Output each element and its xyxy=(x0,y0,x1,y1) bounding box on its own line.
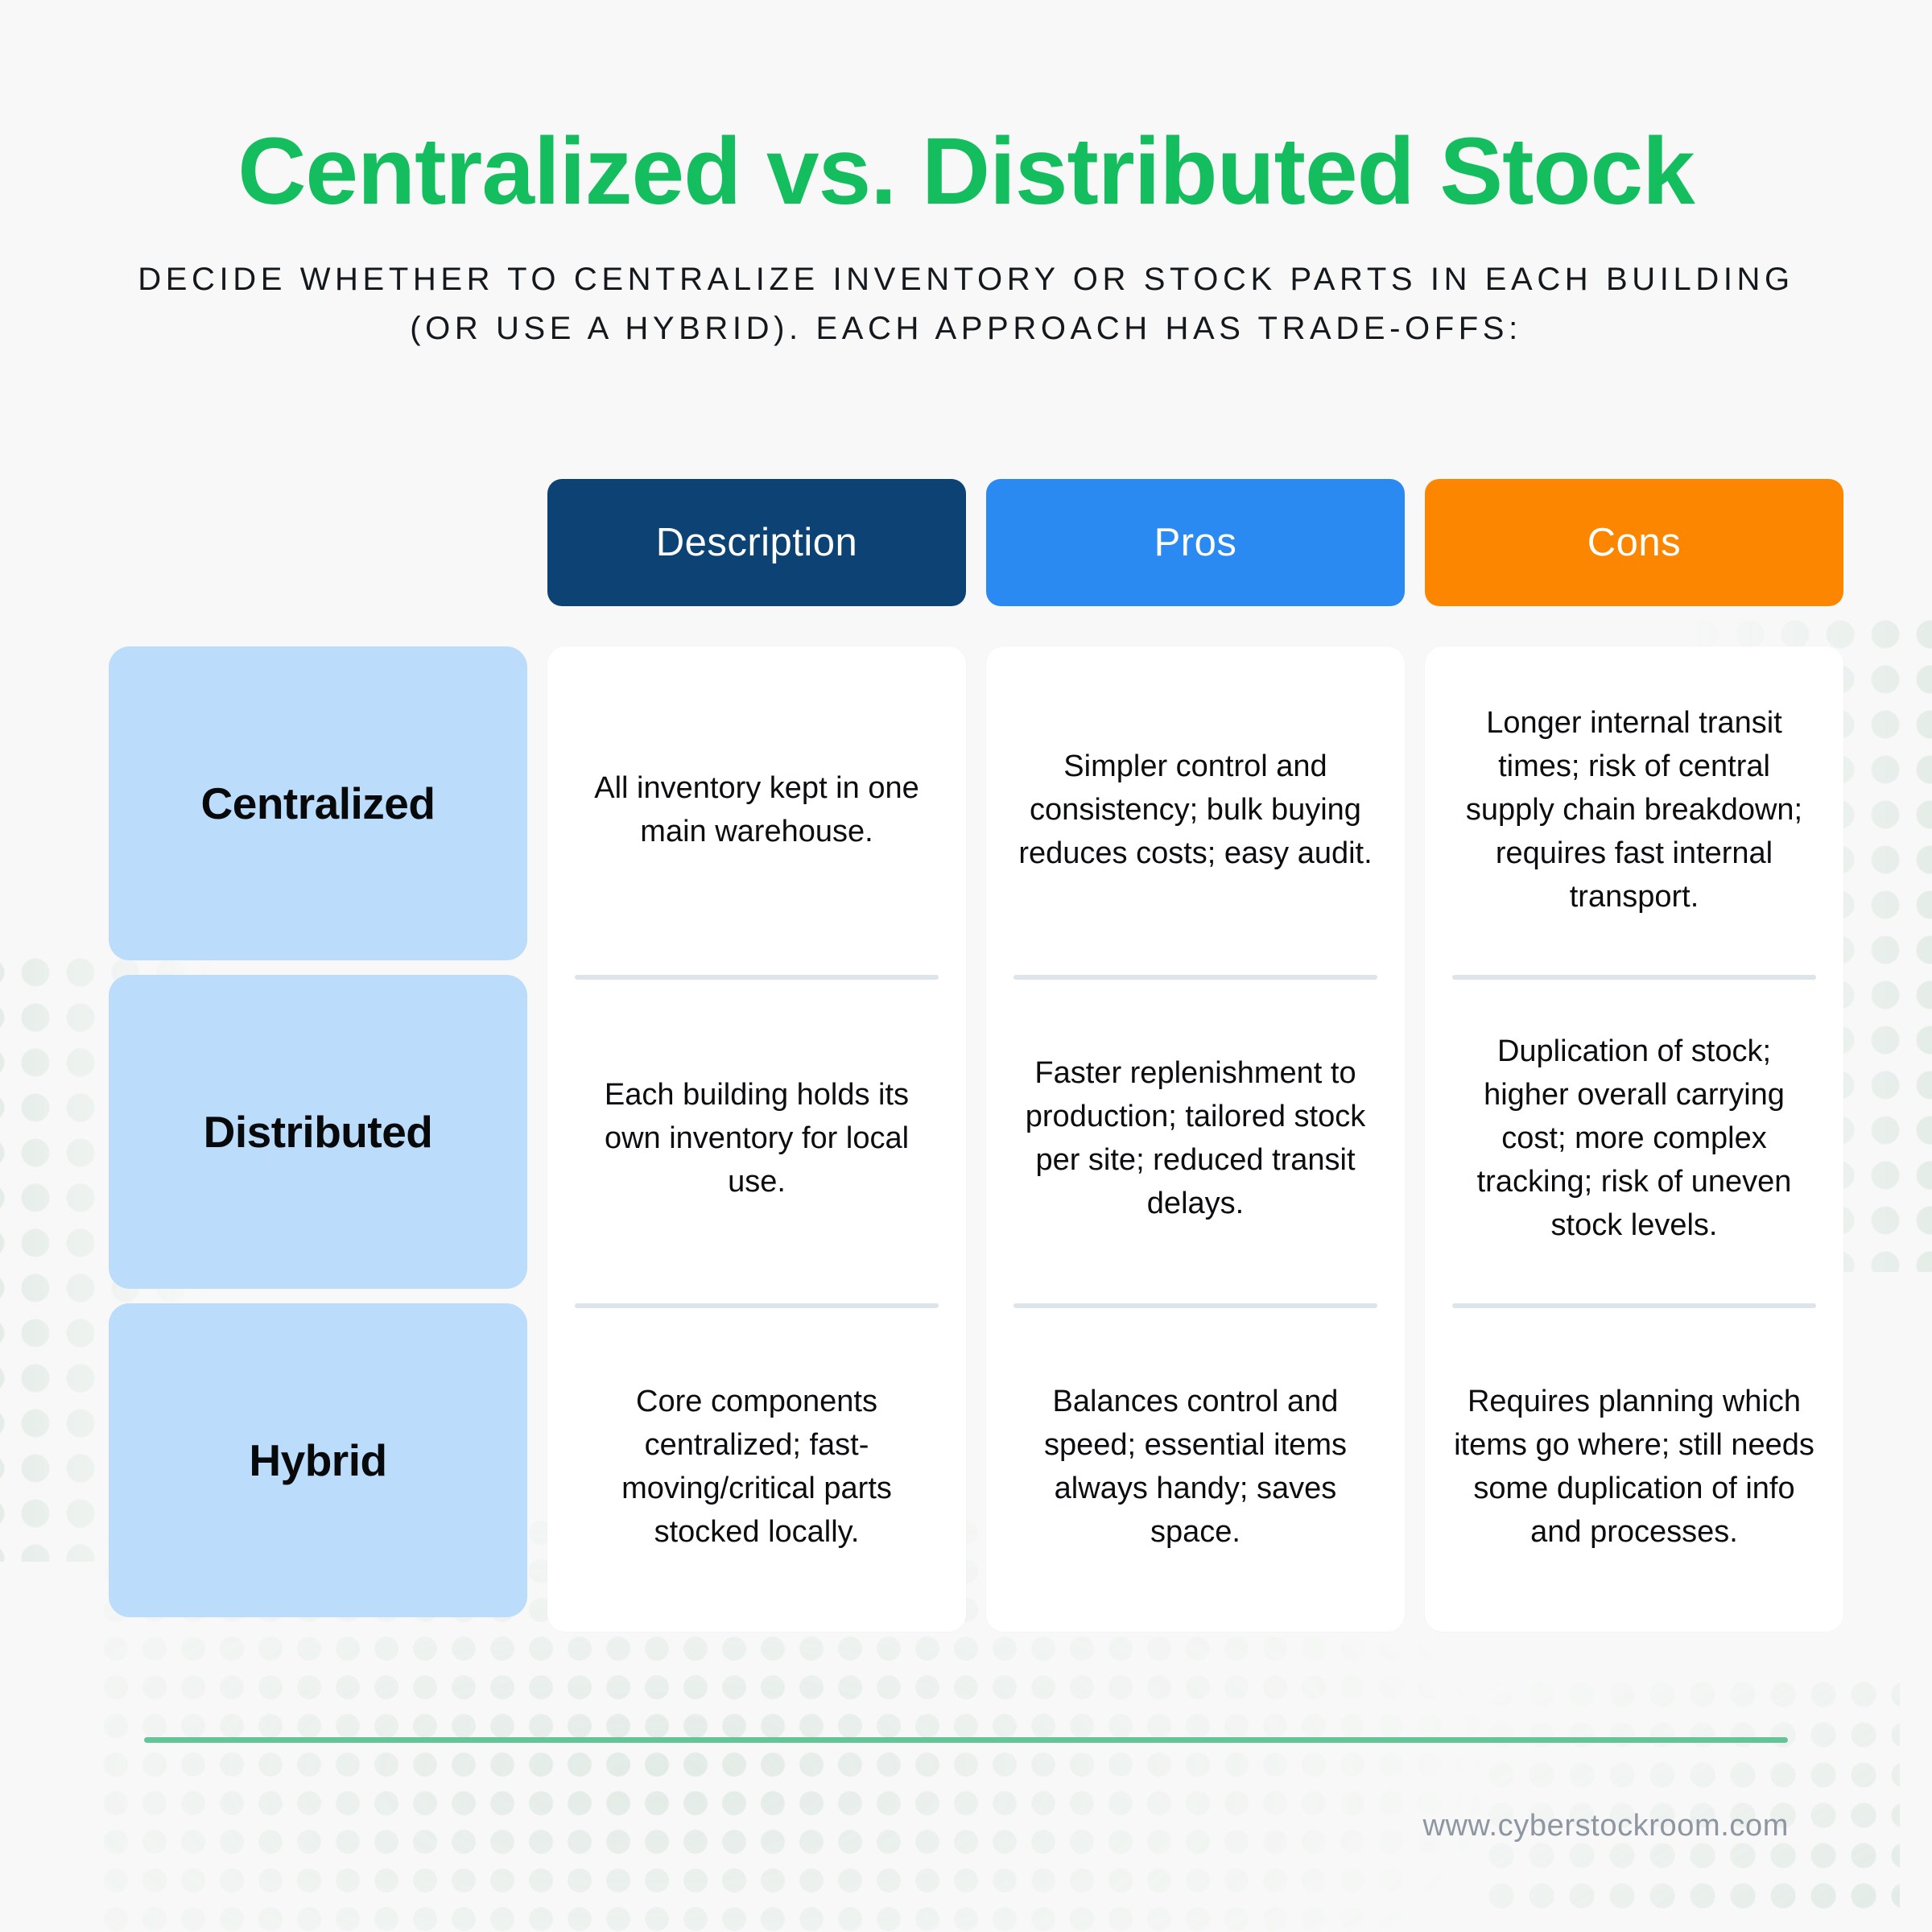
cell-hybrid-description: Core components centralized; fast-moving… xyxy=(547,1303,966,1632)
cell-distributed-cons: Duplication of stock; higher overall car… xyxy=(1425,975,1843,1303)
footer: www.cyberstockroom.com xyxy=(0,1737,1932,1932)
matrix-body: Centralized Distributed Hybrid All inven… xyxy=(109,646,1823,1632)
matrix-header-corner-spacer xyxy=(109,479,527,606)
header: Centralized vs. Distributed Stock Decide… xyxy=(0,0,1932,353)
pros-column: Simpler control and consistency; bulk bu… xyxy=(986,646,1405,1632)
description-column: All inventory kept in one main warehouse… xyxy=(547,646,966,1632)
column-header-description[interactable]: Description xyxy=(547,479,966,606)
cons-column: Longer internal transit times; risk of c… xyxy=(1425,646,1843,1632)
page-title: Centralized vs. Distributed Stock xyxy=(0,121,1932,223)
column-header-cons[interactable]: Cons xyxy=(1425,479,1843,606)
comparison-matrix: Description Pros Cons Centralized Distri… xyxy=(109,479,1823,1632)
cell-distributed-description: Each building holds its own inventory fo… xyxy=(547,975,966,1303)
row-label-hybrid[interactable]: Hybrid xyxy=(109,1303,527,1617)
footer-divider xyxy=(144,1737,1788,1743)
row-label-centralized[interactable]: Centralized xyxy=(109,646,527,960)
cell-hybrid-cons: Requires planning which items go where; … xyxy=(1425,1303,1843,1632)
row-label-distributed[interactable]: Distributed xyxy=(109,975,527,1289)
cell-centralized-description: All inventory kept in one main warehouse… xyxy=(547,646,966,975)
cell-distributed-pros: Faster replenishment to production; tail… xyxy=(986,975,1405,1303)
row-label-column: Centralized Distributed Hybrid xyxy=(109,646,527,1632)
cell-centralized-cons: Longer internal transit times; risk of c… xyxy=(1425,646,1843,975)
cell-hybrid-pros: Balances control and speed; essential it… xyxy=(986,1303,1405,1632)
cell-centralized-pros: Simpler control and consistency; bulk bu… xyxy=(986,646,1405,975)
page-subtitle: Decide whether to centralize inventory o… xyxy=(117,255,1815,353)
infographic-canvas: Centralized vs. Distributed Stock Decide… xyxy=(0,0,1932,1932)
matrix-header-row: Description Pros Cons xyxy=(109,479,1823,606)
footer-website-url[interactable]: www.cyberstockroom.com xyxy=(0,1809,1932,1932)
column-header-pros[interactable]: Pros xyxy=(986,479,1405,606)
